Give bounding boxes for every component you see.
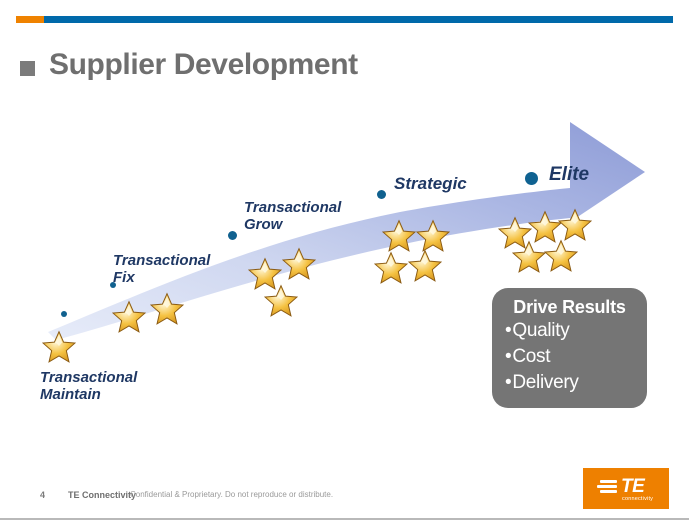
gold-star-icon xyxy=(374,251,408,285)
bullet-icon: • xyxy=(505,346,511,367)
star-cluster-strategic xyxy=(370,219,450,291)
accent-rule-orange xyxy=(16,16,44,23)
stage-dot-maintain xyxy=(61,311,67,317)
stage-dot-strategic xyxy=(377,190,386,199)
page-number: 4 xyxy=(40,490,45,500)
drive-results-item-cost: •Cost xyxy=(492,344,647,370)
gold-star-icon xyxy=(112,300,146,334)
gold-star-icon xyxy=(416,219,450,253)
stage-dot-grow xyxy=(228,231,237,240)
stage-label-grow: Transactional Grow xyxy=(244,200,341,234)
gold-star-icon xyxy=(42,330,76,364)
te-tagline: connectivity xyxy=(622,496,653,502)
drive-results-item-label: Cost xyxy=(512,346,550,367)
bullet-icon: • xyxy=(505,320,511,341)
drive-results-title: Drive Results xyxy=(492,297,647,318)
star-cluster-grow xyxy=(248,243,338,309)
drive-results-item-quality: •Quality xyxy=(492,318,647,344)
gold-star-icon xyxy=(150,292,184,326)
gold-star-icon xyxy=(512,240,546,274)
page-title: Supplier Development xyxy=(49,48,358,82)
gold-star-icon xyxy=(382,219,416,253)
drive-results-item-label: Quality xyxy=(512,320,569,341)
te-wordmark: TE xyxy=(621,476,644,498)
gold-star-icon xyxy=(282,247,316,281)
stage-label-fix: Transactional Fix xyxy=(113,253,210,287)
gold-star-icon xyxy=(408,249,442,283)
gold-star-icon xyxy=(264,284,298,318)
bullet-icon: • xyxy=(505,372,511,393)
stage-label-maintain: Transactional Maintain xyxy=(40,370,137,404)
star-cluster-maintain xyxy=(42,330,82,370)
te-bars-icon xyxy=(597,480,617,494)
square-bullet-icon xyxy=(20,61,35,76)
accent-rule-blue xyxy=(44,16,673,23)
drive-results-item-delivery: •Delivery xyxy=(492,370,647,396)
title-row: Supplier Development xyxy=(20,48,358,82)
gold-star-icon xyxy=(558,208,592,242)
footer-legal-text: Confidential & Proprietary. Do not repro… xyxy=(130,490,333,499)
stage-label-strategic: Strategic xyxy=(394,174,467,193)
drive-results-box: Drive Results •Quality •Cost •Delivery xyxy=(492,288,647,408)
star-cluster-elite xyxy=(498,208,608,280)
stage-label-elite: Elite xyxy=(549,164,589,185)
drive-results-item-label: Delivery xyxy=(512,372,578,393)
gold-star-icon xyxy=(544,239,578,273)
footer-brand: TE Connectivity xyxy=(68,490,136,500)
te-connectivity-logo: TE connectivity xyxy=(583,468,669,509)
star-cluster-fix xyxy=(112,292,192,334)
stage-dot-elite xyxy=(523,170,540,187)
slide-canvas: Supplier Development Transactional Maint… xyxy=(0,0,689,520)
